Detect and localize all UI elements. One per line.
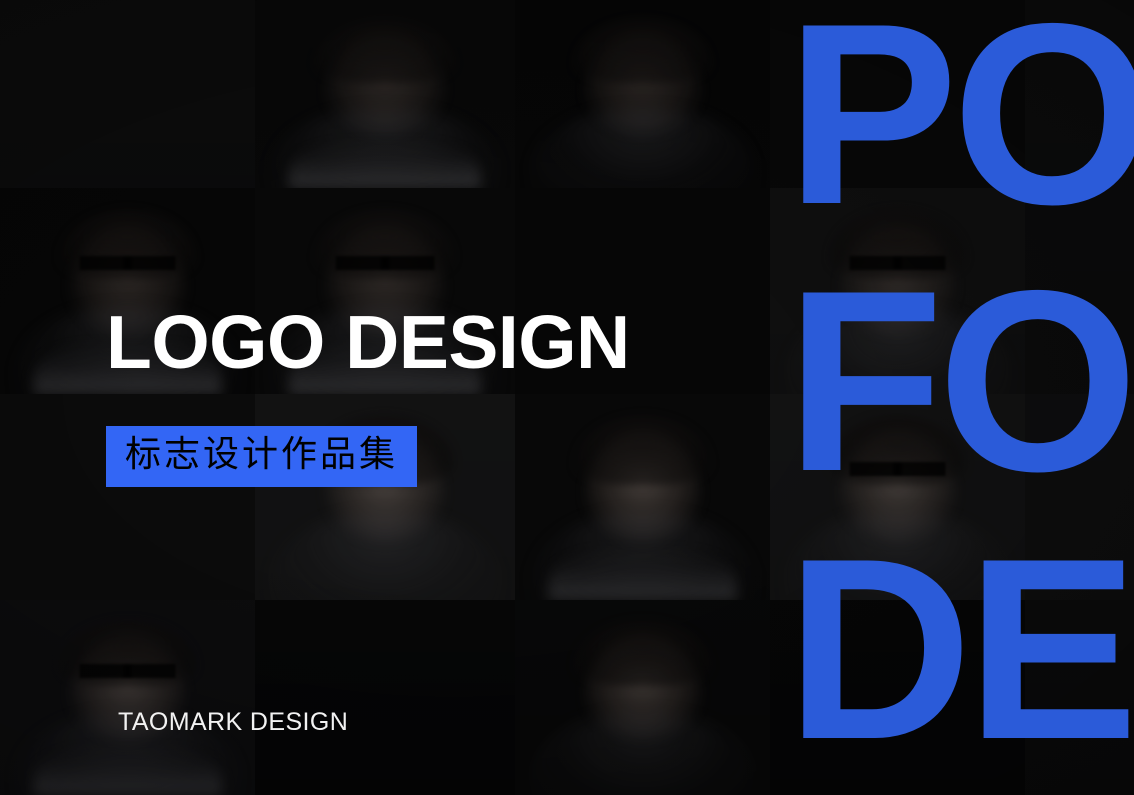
photo-tile-empty	[1025, 0, 1134, 188]
shirt-shape	[289, 139, 481, 188]
photo-tile-empty	[1025, 188, 1134, 394]
photo-tile-empty	[770, 600, 1025, 795]
headline-block: LOGO DESIGN 标志设计作品集	[106, 305, 666, 487]
shirt-shape	[33, 744, 222, 795]
hair-shape	[574, 19, 712, 83]
photo-tile-empty	[1025, 600, 1134, 795]
glasses-icon	[849, 256, 946, 270]
brand-name: TAOMARK DESIGN	[118, 708, 348, 737]
glasses-icon	[336, 256, 435, 270]
glasses-icon	[79, 664, 176, 678]
photo-tile-empty	[0, 0, 255, 188]
photo-tile	[515, 0, 770, 188]
subtitle-badge: 标志设计作品集	[106, 426, 417, 487]
photo-tile-empty	[255, 600, 515, 795]
glasses-icon	[79, 256, 176, 270]
hair-shape	[574, 620, 712, 686]
photo-tile	[255, 0, 515, 188]
photo-tile	[770, 188, 1025, 394]
shirt-shape	[548, 546, 737, 600]
photo-tile-empty	[770, 0, 1025, 188]
hair-shape	[315, 19, 455, 83]
page-title: LOGO DESIGN	[106, 305, 666, 380]
photo-tile	[515, 600, 770, 795]
photo-tile	[770, 394, 1025, 600]
photo-tile-empty	[1025, 394, 1134, 600]
glasses-icon	[849, 462, 946, 476]
photo-tile	[0, 600, 255, 795]
portfolio-cover-canvas: PO FO DE LOGO DESIGN 标志设计作品集 TAOMARK DES…	[0, 0, 1134, 795]
